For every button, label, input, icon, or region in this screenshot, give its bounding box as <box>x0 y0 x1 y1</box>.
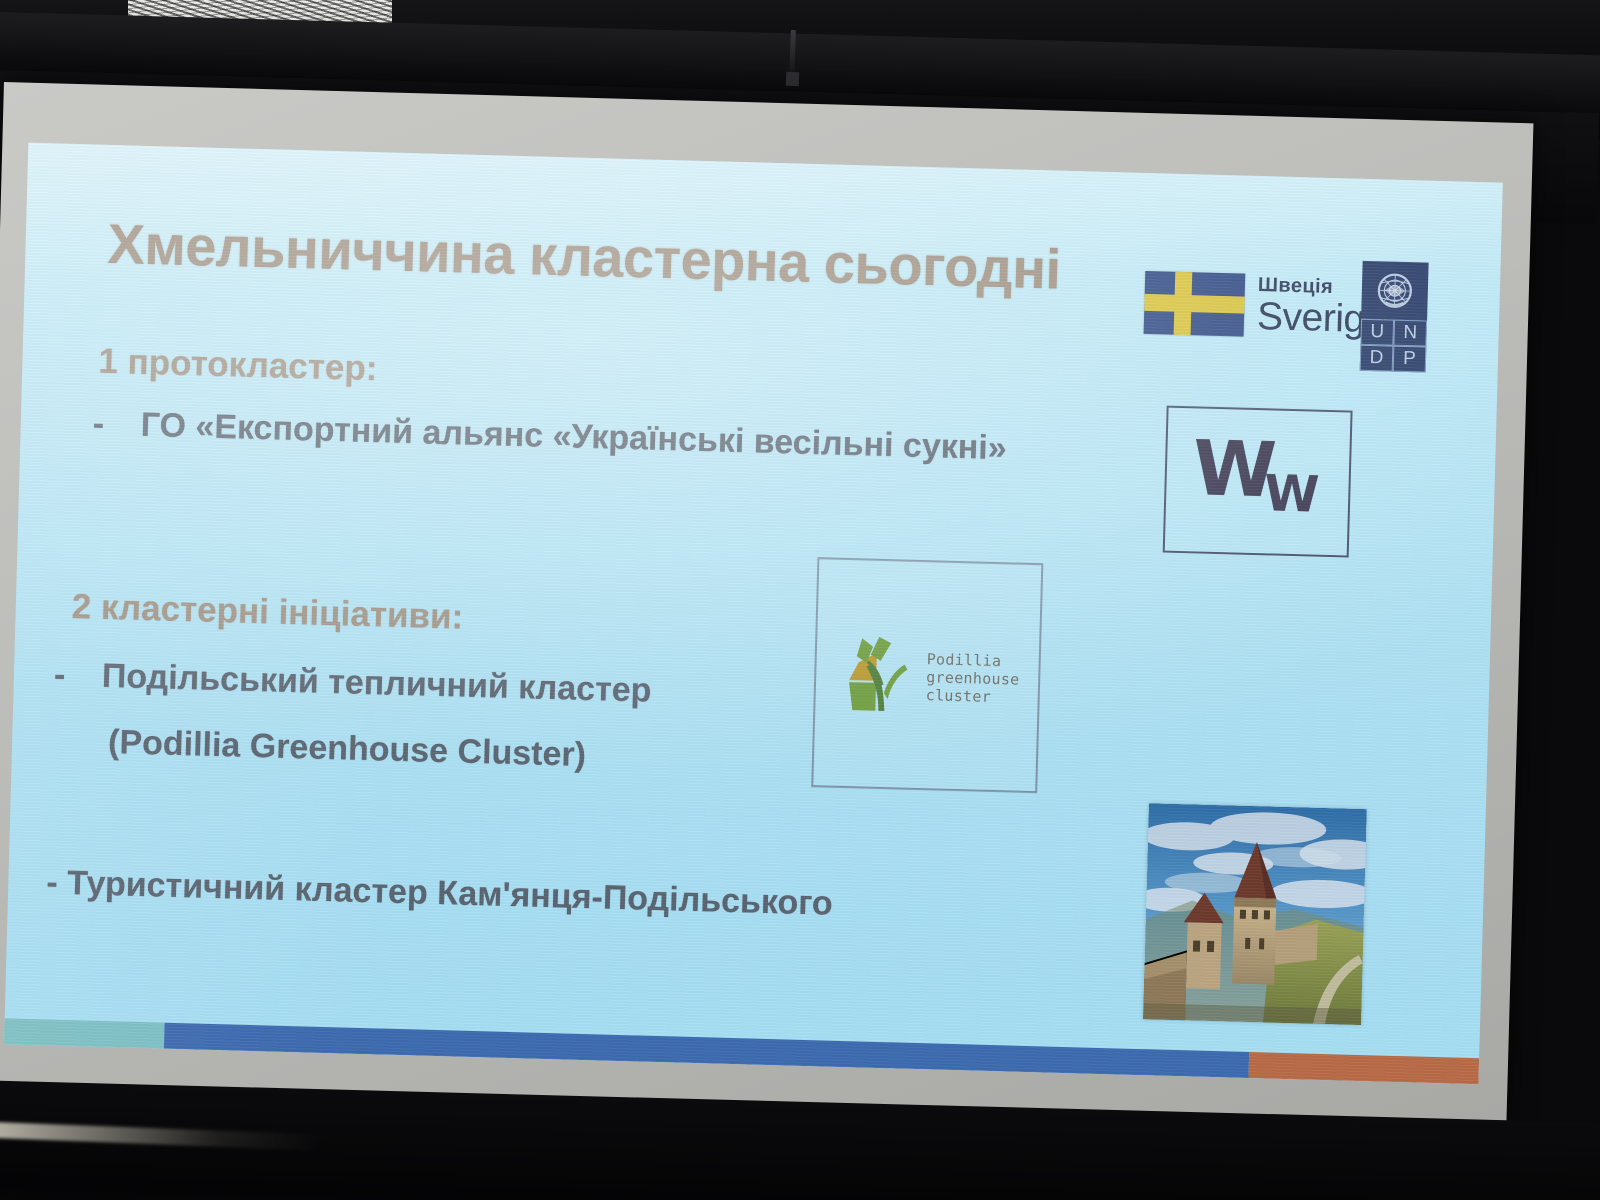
sweden-flag-icon <box>1144 271 1246 337</box>
bullet-2-text: Подільський тепличний кластер <box>101 657 651 710</box>
bullet-dash: - <box>53 656 102 696</box>
slide-heading-cluster-initiatives: 2 кластерні ініціативи: <box>71 587 463 638</box>
undp-letter-p: P <box>1393 346 1427 373</box>
undp-logo: U N D P <box>1360 261 1429 373</box>
slide-title: Хмельниччина кластерна сьогодні <box>107 211 1062 302</box>
un-emblem-icon <box>1361 261 1429 321</box>
ww-logo-mark: WW <box>1192 434 1321 506</box>
ww-letter-2: W <box>1263 464 1314 523</box>
slide-heading-protocluster: 1 протокластер: <box>98 342 378 390</box>
ww-logo-box: WW <box>1163 406 1353 558</box>
podillia-line-1: Podillia <box>926 650 1020 671</box>
photo-scene: Хмельниччина кластерна сьогодні Швеція S… <box>0 0 1600 1200</box>
slide-bullet-tourism-cluster: - Туристичний кластер Кам'янця-Подільськ… <box>46 863 833 923</box>
slide-bullet-podillia-greenhouse-english: (Podillia Greenhouse Cluster) <box>108 723 587 775</box>
undp-letter-n: N <box>1393 320 1427 347</box>
accent-segment-teal <box>4 1018 165 1048</box>
bullet-1-text: ГО «Експортний альянс «Українські весіль… <box>140 406 1007 467</box>
kamianets-podilskyi-castle-photo <box>1143 803 1367 1025</box>
sweden-sverige-logo: Швеція Sverige <box>1144 271 1387 341</box>
podillia-plant-icon <box>835 632 919 720</box>
undp-letter-d: D <box>1360 345 1394 372</box>
ww-letter-1: W <box>1192 423 1272 514</box>
podillia-line-3: cluster <box>925 686 1019 707</box>
undp-letter-u: U <box>1360 319 1394 346</box>
podillia-logo-text: Podillia greenhouse cluster <box>925 650 1020 707</box>
podillia-logo-inner: Podillia greenhouse cluster <box>835 632 1021 723</box>
slide-bullet-podillia-greenhouse: -Подільський тепличний кластер <box>53 656 652 711</box>
podillia-greenhouse-cluster-logo-box: Podillia greenhouse cluster <box>811 557 1043 793</box>
hanging-wire-clip <box>786 72 799 86</box>
presentation-slide: Хмельниччина кластерна сьогодні Швеція S… <box>4 143 1503 1085</box>
bullet-dash: - <box>92 405 141 445</box>
projection-screen: Хмельниччина кластерна сьогодні Швеція S… <box>0 82 1533 1128</box>
slide-bullet-export-alliance: -ГО «Експортний альянс «Українські весіл… <box>92 405 1007 469</box>
undp-letter-grid: U N D P <box>1360 319 1427 373</box>
